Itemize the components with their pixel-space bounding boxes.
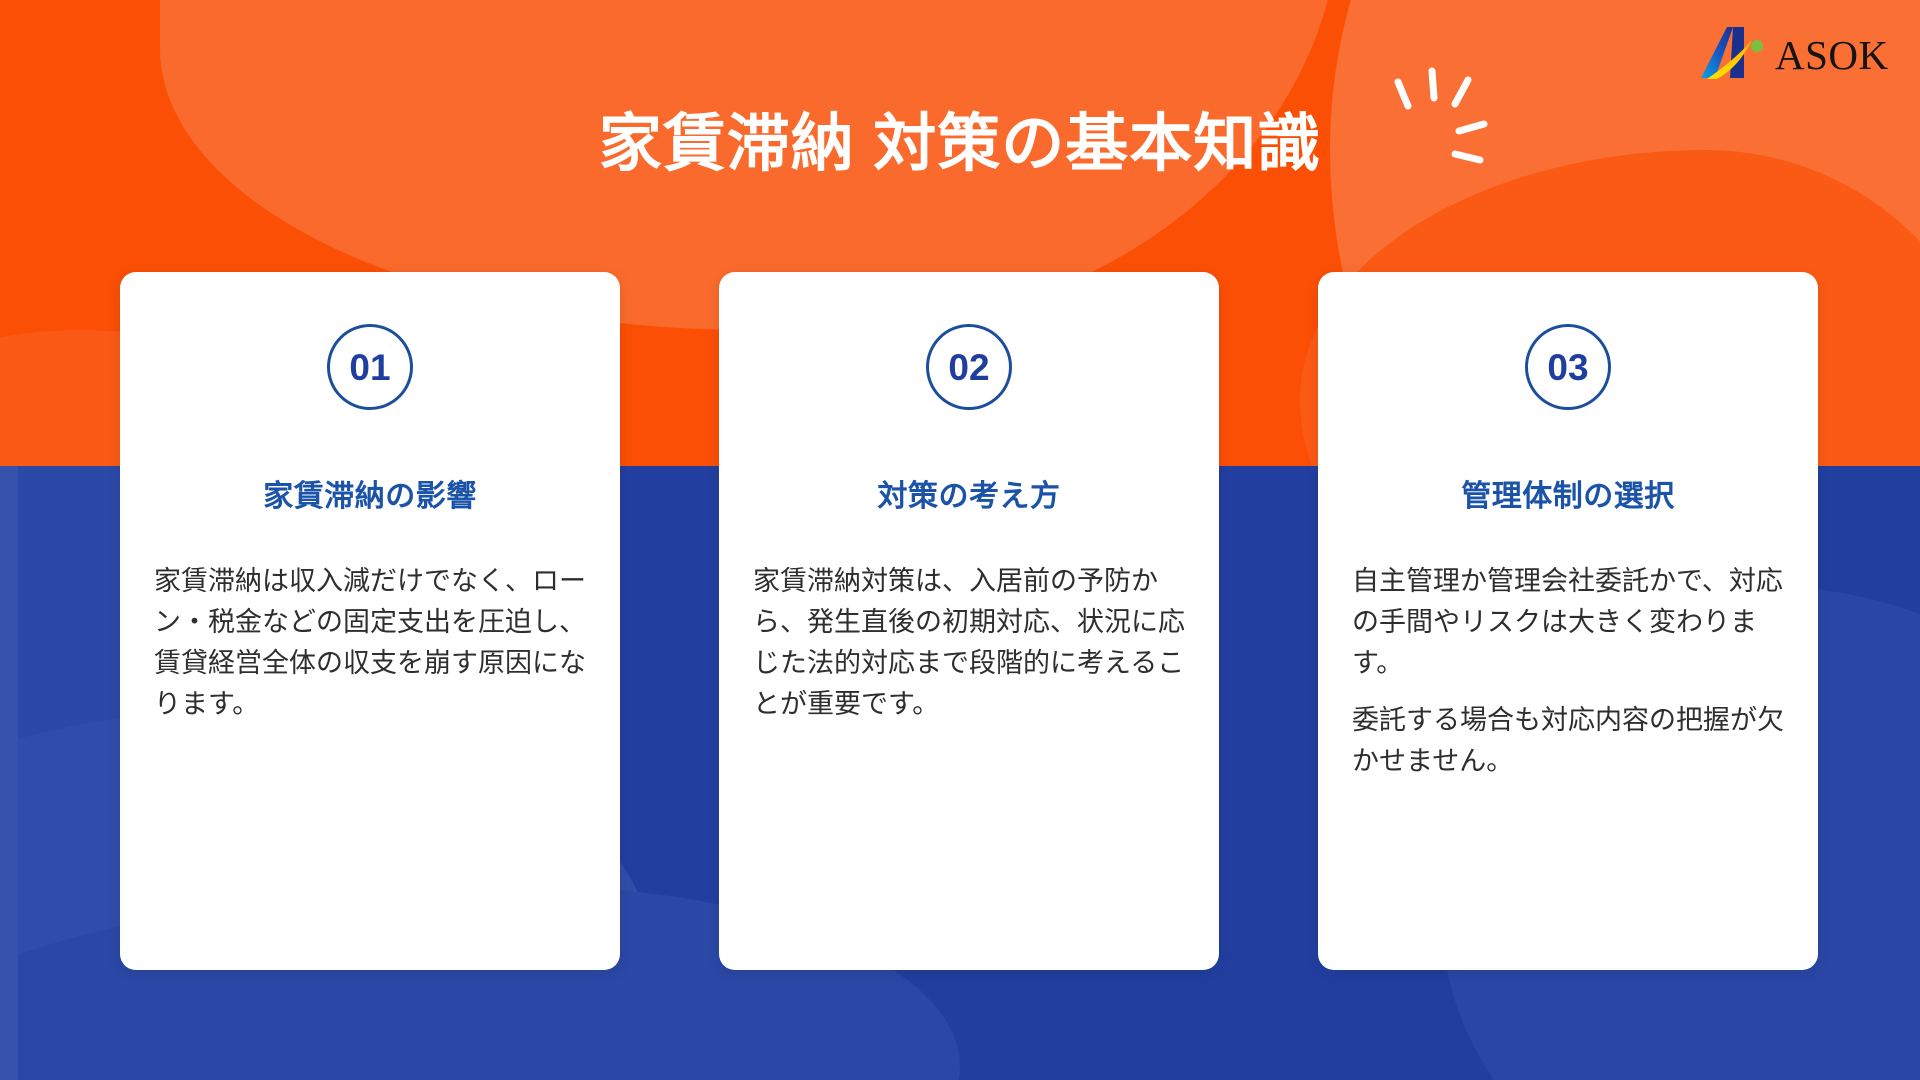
card-paragraph: 自主管理か管理会社委託かで、対応の手間やリスクは大きく変わります。 <box>1352 561 1784 684</box>
info-card-01[interactable]: 01 家賃滞納の影響 家賃滞納は収入減だけでなく、ローン・税金などの固定支出を圧… <box>120 272 620 970</box>
card-body: 自主管理か管理会社委託かで、対応の手間やリスクは大きく変わります。 委託する場合… <box>1352 561 1784 782</box>
card-heading: 対策の考え方 <box>878 479 1061 515</box>
card-paragraph: 家賃滞納は収入減だけでなく、ローン・税金などの固定支出を圧迫し、賃貸経営全体の収… <box>154 561 586 725</box>
asok-a-mark-icon <box>1697 24 1769 86</box>
card-paragraph: 委託する場合も対応内容の把握が欠かせません。 <box>1352 700 1784 782</box>
card-heading: 管理体制の選択 <box>1461 479 1675 515</box>
info-card-03[interactable]: 03 管理体制の選択 自主管理か管理会社委託かで、対応の手間やリスクは大きく変わ… <box>1318 272 1818 970</box>
step-number: 03 <box>1547 349 1588 386</box>
card-body: 家賃滞納対策は、入居前の予防から、発生直後の初期対応、状況に応じた法的対応まで段… <box>753 561 1185 725</box>
info-card-02[interactable]: 02 対策の考え方 家賃滞納対策は、入居前の予防から、発生直後の初期対応、状況に… <box>719 272 1219 970</box>
step-badge-02: 02 <box>926 324 1012 410</box>
slide-canvas: ASOK 家賃滞納 対策の基本知識 01 家賃滞納の影響 家賃滞納は収入減だけで… <box>0 0 1920 1080</box>
step-badge-01: 01 <box>327 324 413 410</box>
step-badge-03: 03 <box>1525 324 1611 410</box>
page-title: 家賃滞納 対策の基本知識 <box>0 110 1920 179</box>
step-number: 01 <box>349 349 390 386</box>
decorative-left-edge-stripe <box>0 466 18 1080</box>
step-number: 02 <box>948 349 989 386</box>
card-paragraph: 家賃滞納対策は、入居前の予防から、発生直後の初期対応、状況に応じた法的対応まで段… <box>753 561 1185 725</box>
brand-logo: ASOK <box>1697 24 1889 86</box>
card-row: 01 家賃滞納の影響 家賃滞納は収入減だけでなく、ローン・税金などの固定支出を圧… <box>120 272 1818 970</box>
brand-name: ASOK <box>1775 35 1889 76</box>
card-body: 家賃滞納は収入減だけでなく、ローン・税金などの固定支出を圧迫し、賃貸経営全体の収… <box>154 561 586 725</box>
card-heading: 家賃滞納の影響 <box>263 479 477 515</box>
